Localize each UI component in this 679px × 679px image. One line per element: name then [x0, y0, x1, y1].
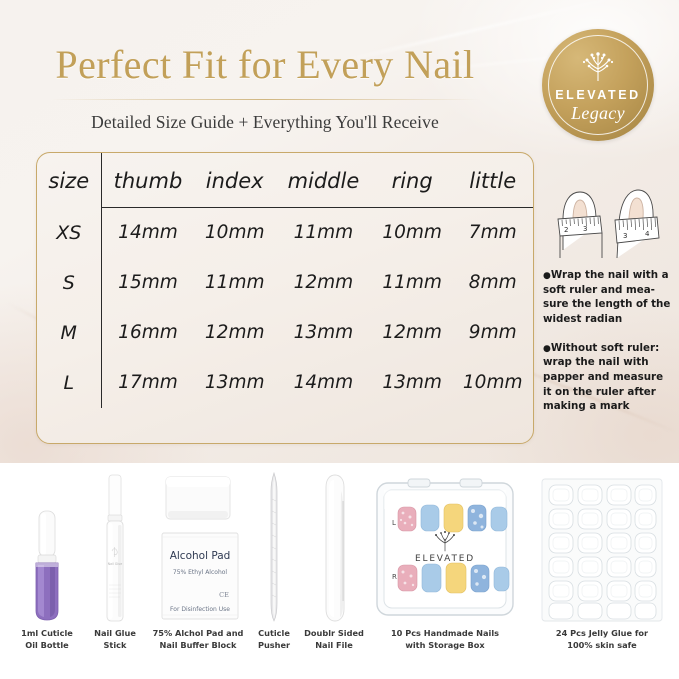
column-header-ring: ring — [372, 153, 453, 208]
logo-ring — [548, 35, 648, 135]
page-subtitle: Detailed Size Guide + Everything You'll … — [0, 112, 530, 133]
storage-box-image: L R — [362, 463, 528, 623]
storage-box-brand: ELEVATED — [415, 554, 475, 564]
alcohol-pad-subtitle: 75% Ethyl Alcohol — [173, 569, 228, 576]
svg-text:3: 3 — [623, 232, 627, 240]
cell-ring: 10mm — [372, 208, 453, 258]
cell-little: 9mm — [452, 308, 533, 358]
brand-logo-badge: ELEVATED Legacy — [542, 29, 654, 141]
column-header-middle: middle — [275, 153, 372, 208]
svg-text:3: 3 — [583, 225, 587, 233]
product-item-storage-box: L R — [362, 463, 528, 652]
cell-ring: 13mm — [372, 358, 453, 408]
cell-middle: 13mm — [275, 308, 372, 358]
instruction-text: Without soft ruler: wrap the nail with p… — [543, 342, 663, 413]
cell-size: L — [37, 358, 101, 408]
cell-little: 8mm — [452, 258, 533, 308]
cell-ring: 12mm — [372, 308, 453, 358]
table-row: L 17mm 13mm 14mm 13mm 10mm — [37, 358, 533, 408]
cell-thumb: 16mm — [101, 308, 194, 358]
alcohol-pad-ce-mark: CE — [219, 591, 229, 599]
header: Perfect Fit for Every Nail Detailed Size… — [0, 0, 530, 133]
cell-ring: 11mm — [372, 258, 453, 308]
column-header-size: size — [37, 153, 101, 208]
instruction-item-1: ●Wrap the nail with a soft ruler and mea… — [543, 268, 675, 327]
product-item-jelly-glue: 24 Pcs Jelly Glue for 100% skin safe — [528, 463, 676, 652]
cell-middle: 11mm — [275, 208, 372, 258]
row-label-left: L — [392, 519, 396, 527]
cell-index: 10mm — [194, 208, 275, 258]
size-table-panel: size thumb index middle ring little XS 1… — [36, 152, 534, 444]
svg-text:2: 2 — [564, 226, 568, 234]
bullet-icon: ● — [543, 344, 551, 354]
included-items-strip: 1ml Cuticle Oil Bottle Nail Glue — [0, 463, 679, 679]
cell-size: S — [37, 258, 101, 308]
nail-measure-diagram: 2 3 3 4 — [545, 186, 675, 258]
alcohol-pad-title: Alcohol Pad — [170, 550, 231, 562]
product-infographic: Perfect Fit for Every Nail Detailed Size… — [0, 0, 679, 679]
product-caption: 10 Pcs Handmade Nails with Storage Box — [362, 628, 528, 652]
product-caption: 1ml Cuticle Oil Bottle — [8, 628, 86, 652]
row-label-right: R — [392, 573, 397, 581]
size-chart-table: size thumb index middle ring little XS 1… — [37, 153, 533, 408]
cell-size: XS — [37, 208, 101, 258]
column-header-thumb: thumb — [101, 153, 194, 208]
title-divider — [50, 99, 480, 100]
instruction-item-2: ●Without soft ruler: wrap the nail with … — [543, 341, 675, 414]
cell-little: 10mm — [452, 358, 533, 408]
column-header-index: index — [194, 153, 275, 208]
product-item-cuticle-oil: 1ml Cuticle Oil Bottle — [8, 463, 86, 652]
page-title: Perfect Fit for Every Nail — [0, 44, 530, 86]
cell-index: 13mm — [194, 358, 275, 408]
cell-thumb: 15mm — [101, 258, 194, 308]
product-caption: 24 Pcs Jelly Glue for 100% skin safe — [528, 628, 676, 652]
cuticle-oil-bottle-image — [8, 463, 86, 623]
table-header-row: size thumb index middle ring little — [37, 153, 533, 208]
cell-size: M — [37, 308, 101, 358]
table-row: M 16mm 12mm 13mm 12mm 9mm — [37, 308, 533, 358]
table-row: S 15mm 11mm 12mm 11mm 8mm — [37, 258, 533, 308]
measure-instructions: ●Wrap the nail with a soft ruler and mea… — [543, 268, 675, 428]
cell-index: 12mm — [194, 308, 275, 358]
cell-index: 11mm — [194, 258, 275, 308]
svg-text:Nail Glue: Nail Glue — [108, 562, 122, 566]
instruction-text: Wrap the nail with a soft ruler and mea-… — [543, 269, 670, 325]
table-row: XS 14mm 10mm 11mm 10mm 7mm — [37, 208, 533, 258]
cell-thumb: 17mm — [101, 358, 194, 408]
column-header-little: little — [452, 153, 533, 208]
alcohol-pad-footer: For Disinfection Use — [170, 606, 230, 613]
svg-text:4: 4 — [645, 230, 650, 238]
cell-middle: 14mm — [275, 358, 372, 408]
jelly-glue-sheet-image — [528, 463, 676, 623]
cell-thumb: 14mm — [101, 208, 194, 258]
cell-little: 7mm — [452, 208, 533, 258]
bullet-icon: ● — [543, 271, 551, 281]
cell-middle: 12mm — [275, 258, 372, 308]
